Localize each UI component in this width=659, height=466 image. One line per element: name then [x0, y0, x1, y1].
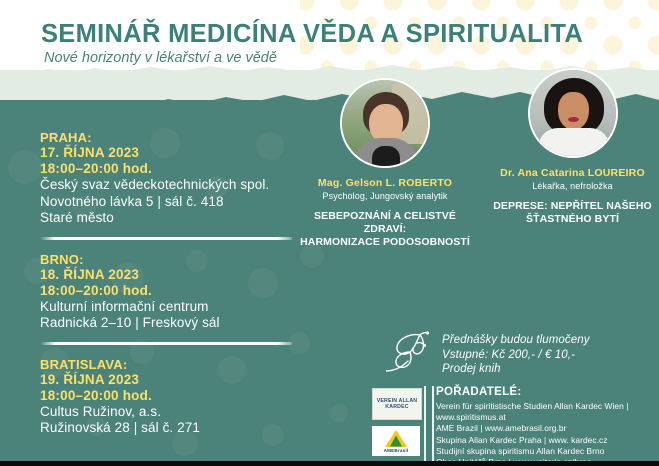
bottom-black-bar: [0, 461, 659, 466]
verein-allan-kardec-logo-text: VEREIN ALLAN KARDEC: [373, 398, 421, 410]
talk-line-2: ŠŤASTNÉHO BYTÍ: [526, 213, 619, 225]
speaker-role: Psycholog, Jungovský analytik: [300, 191, 470, 201]
speaker-talk-title: SEBEPOZNÁNÍ A CELISTVÉ ZDRAVÍ: HARMONIZA…: [300, 210, 470, 249]
event-date: 19. ŘÍJNA 2023: [40, 372, 340, 388]
practical-info-text: Přednášky budou tlumočeny Vstupné: Kč 20…: [442, 333, 590, 377]
event-time: 18:00–20:00 hod.: [40, 388, 340, 404]
event-list: PRAHA: 17. ŘÍJNA 2023 18:00–20:00 hod. Č…: [40, 130, 340, 448]
organiser-line: Verein für spiritistische Studien Allan …: [436, 401, 659, 412]
vertical-double-divider: [424, 386, 434, 462]
speaker-name: Dr. Ana Catarina LOUREIRO: [490, 167, 655, 179]
bokeh-circle: [8, 150, 42, 184]
event-city: PRAHA:: [40, 130, 340, 145]
butterfly-icon: [386, 331, 440, 373]
talk-line-1: DEPRESE: NEPŘÍTEL NAŠEHO: [493, 200, 652, 212]
page-subtitle: Nové horizonty v lékařství a ve vědě: [44, 50, 277, 66]
event-date: 17. ŘÍJNA 2023: [40, 145, 340, 161]
section-divider: [40, 237, 292, 240]
event-time: 18:00–20:00 hod.: [40, 161, 340, 177]
speaker-talk-title: DEPRESE: NEPŘÍTEL NAŠEHO ŠŤASTNÉHO BYTÍ: [490, 200, 655, 226]
organiser-line: Skupina Allan Kardec Praha | www. kardec…: [436, 435, 659, 446]
info-line-interpretation: Přednášky budou tlumočeny: [442, 333, 590, 348]
speaker-role: Lékařka, nefroložka: [490, 181, 655, 191]
event-city: BRNO:: [40, 252, 340, 267]
talk-line-2: HARMONIZACE PODOSOBNOSTÍ: [300, 236, 470, 248]
speaker-card-ana-catarina-loureiro: Dr. Ana Catarina LOUREIRO Lékařka, nefro…: [490, 68, 655, 226]
event-time: 18:00–20:00 hod.: [40, 283, 340, 299]
page-title: SEMINÁŘ MEDICÍNA VĚDA A SPIRITUALITA: [41, 20, 583, 49]
event-item-brno: BRNO: 18. ŘÍJNA 2023 18:00–20:00 hod. Ku…: [40, 252, 340, 345]
event-item-bratislava: BRATISLAVA: 19. ŘÍJNA 2023 18:00–20:00 h…: [40, 357, 340, 437]
event-district: Staré město: [40, 210, 340, 227]
event-address: Ružinovská 28 | sál č. 271: [40, 420, 340, 437]
ame-brasil-logo: AMEBrasil: [372, 426, 420, 456]
event-address: Radnická 2–10 | Freskový sál: [40, 315, 340, 332]
organiser-logos: VEREIN ALLAN KARDEC AMEBrasil: [372, 388, 420, 456]
section-divider: [40, 342, 292, 345]
speaker-card-gelson-roberto: Mag. Gelson L. ROBERTO Psycholog, Jungov…: [300, 78, 470, 249]
speaker-photo-gelson-roberto: [340, 78, 430, 168]
event-city: BRATISLAVA:: [40, 357, 340, 372]
verein-allan-kardec-logo: VEREIN ALLAN KARDEC: [372, 388, 422, 420]
talk-line-1: SEBEPOZNÁNÍ A CELISTVÉ ZDRAVÍ:: [314, 210, 456, 235]
speaker-photo-ana-catarina-loureiro: [528, 68, 618, 158]
event-address: Novotného lávka 5 | sál č. 418: [40, 194, 340, 211]
ame-triangle-icon: [385, 430, 407, 447]
speaker-name: Mag. Gelson L. ROBERTO: [300, 177, 470, 189]
organiser-line: Studijní skupina spiritismu Allan Kardec…: [436, 446, 659, 457]
organiser-line: AME Brazil | www.amebrasil.org.br: [436, 423, 659, 434]
event-date: 18. ŘÍJNA 2023: [40, 267, 340, 283]
event-venue: Český svaz vědeckotechnických spol.: [40, 177, 340, 194]
event-venue: Kulturní informační centrum: [40, 299, 340, 316]
ame-brasil-logo-text: AMEBrasil: [384, 448, 409, 453]
organiser-line: www.spiritismus.at: [436, 412, 659, 423]
event-venue: Cultus Ružinov, a.s.: [40, 404, 340, 421]
organisers-heading: POŘADATELÉ:: [436, 386, 659, 398]
info-line-books: Prodej knih: [442, 362, 590, 377]
organisers-block: POŘADATELÉ: Verein für spiritistische St…: [436, 386, 659, 466]
event-item-praha: PRAHA: 17. ŘÍJNA 2023 18:00–20:00 hod. Č…: [40, 130, 340, 240]
poster-canvas: SEMINÁŘ MEDICÍNA VĚDA A SPIRITUALITA Nov…: [0, 0, 659, 466]
info-line-price: Vstupné: Kč 200,- / € 10,-: [442, 348, 590, 363]
